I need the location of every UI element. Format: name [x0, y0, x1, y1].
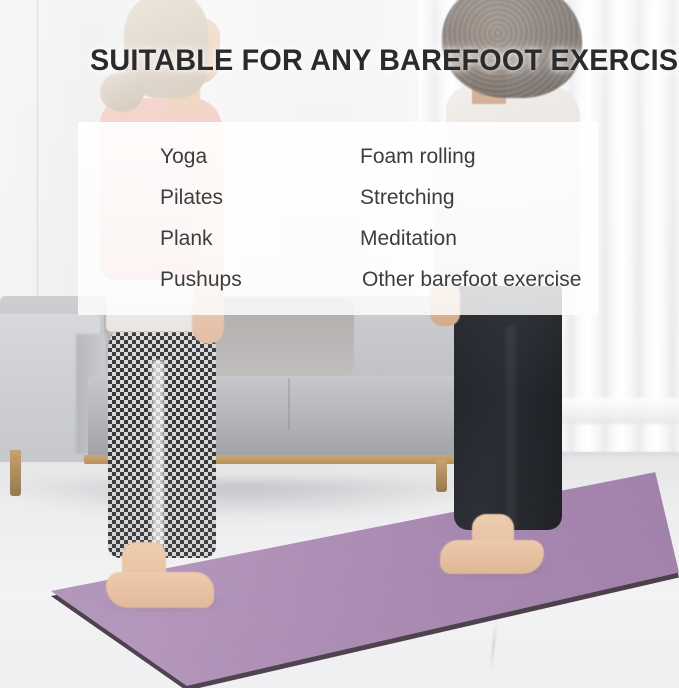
model-left-patterned-leggings: [108, 320, 216, 558]
list-item: Meditation: [360, 227, 457, 251]
page-title: SUITABLE FOR ANY BAREFOOT EXERCISE: [90, 44, 679, 78]
product-lifestyle-image: SUITABLE FOR ANY BAREFOOT EXERCISE Yoga …: [0, 0, 679, 688]
list-item: Plank: [160, 227, 213, 251]
model-left-bare-foot: [106, 572, 214, 608]
list-item: Stretching: [360, 186, 455, 210]
list-item: Pilates: [160, 186, 223, 210]
model-right-bare-foot: [440, 540, 544, 574]
list-item: Pushups: [160, 268, 242, 292]
list-item: Other barefoot exercise: [362, 268, 581, 292]
exercise-list: Yoga Pilates Plank Pushups Foam rolling …: [78, 123, 598, 315]
list-item: Yoga: [160, 145, 207, 169]
exercise-list-panel: Yoga Pilates Plank Pushups Foam rolling …: [78, 122, 598, 315]
sofa-cushion-divider: [288, 378, 290, 430]
list-item: Foam rolling: [360, 145, 476, 169]
model-left-hair-bun: [100, 72, 144, 112]
